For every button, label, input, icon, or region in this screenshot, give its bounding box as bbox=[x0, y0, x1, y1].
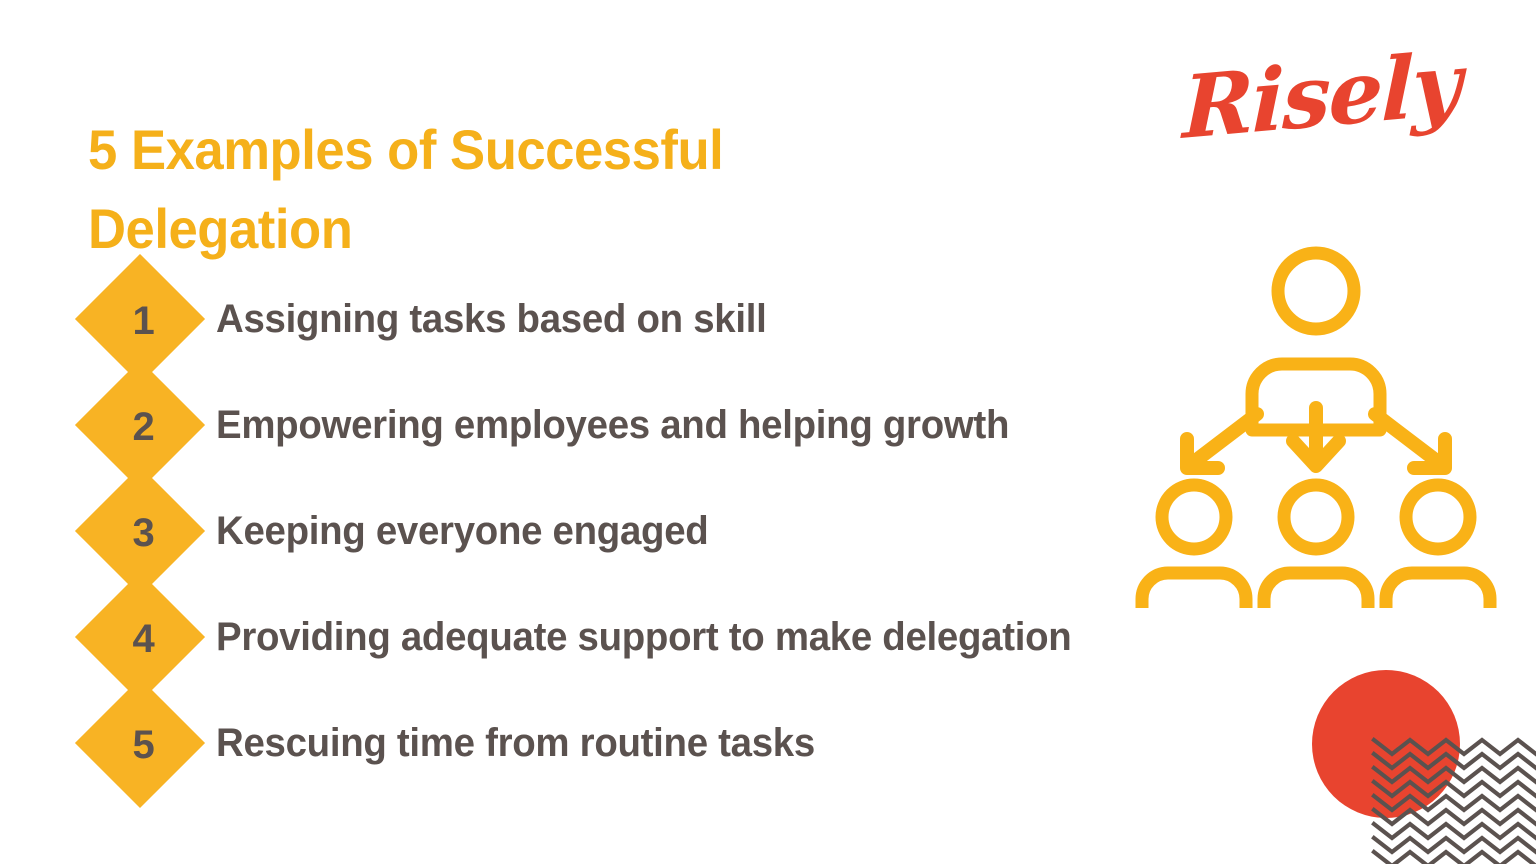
team-member-3-head-icon bbox=[1406, 485, 1470, 549]
list-item: 3 Keeping everyone engaged bbox=[0, 478, 1280, 584]
list-item-label: Providing adequate support to make deleg… bbox=[216, 615, 1237, 659]
badge-number: 5 bbox=[132, 725, 154, 765]
logo-wordmark: Risely bbox=[1182, 41, 1460, 152]
team-member-2-body-icon bbox=[1264, 573, 1368, 608]
arrow-left-shaft bbox=[1190, 414, 1257, 465]
leader-head-icon bbox=[1278, 253, 1354, 329]
arrow-right-shaft bbox=[1375, 414, 1442, 465]
list-item-label: Keeping everyone engaged bbox=[216, 509, 1237, 553]
badge-number: 4 bbox=[132, 619, 154, 659]
badge-number: 3 bbox=[132, 513, 154, 553]
list-item-label: Empowering employees and helping growth bbox=[216, 403, 1237, 447]
list-item-label: Assigning tasks based on skill bbox=[216, 297, 1237, 341]
list-item: 5 Rescuing time from routine tasks bbox=[0, 690, 1280, 796]
list-item-label: Rescuing time from routine tasks bbox=[216, 721, 1237, 765]
list-item: 4 Providing adequate support to make del… bbox=[0, 584, 1280, 690]
risely-logo: Risely bbox=[1182, 58, 1458, 180]
delegation-hierarchy-icon bbox=[1128, 236, 1504, 608]
slide-canvas: 5 Examples of Successful Delegation Rise… bbox=[0, 0, 1536, 864]
badge-number: 1 bbox=[132, 301, 154, 341]
examples-list: 1 Assigning tasks based on skill 2 Empow… bbox=[0, 266, 1280, 796]
badge-number: 2 bbox=[132, 407, 154, 447]
team-member-2-head-icon bbox=[1284, 485, 1348, 549]
team-member-3-body-icon bbox=[1386, 573, 1490, 608]
decoration-svg bbox=[1296, 648, 1536, 864]
number-badge-5: 5 bbox=[75, 678, 205, 808]
list-item: 1 Assigning tasks based on skill bbox=[0, 266, 1280, 372]
team-member-1-body-icon bbox=[1142, 573, 1246, 608]
team-member-1-head-icon bbox=[1162, 485, 1226, 549]
page-title: 5 Examples of Successful Delegation bbox=[88, 110, 831, 269]
list-item: 2 Empowering employees and helping growt… bbox=[0, 372, 1280, 478]
corner-decoration bbox=[1296, 648, 1536, 864]
delegation-svg bbox=[1128, 236, 1504, 608]
